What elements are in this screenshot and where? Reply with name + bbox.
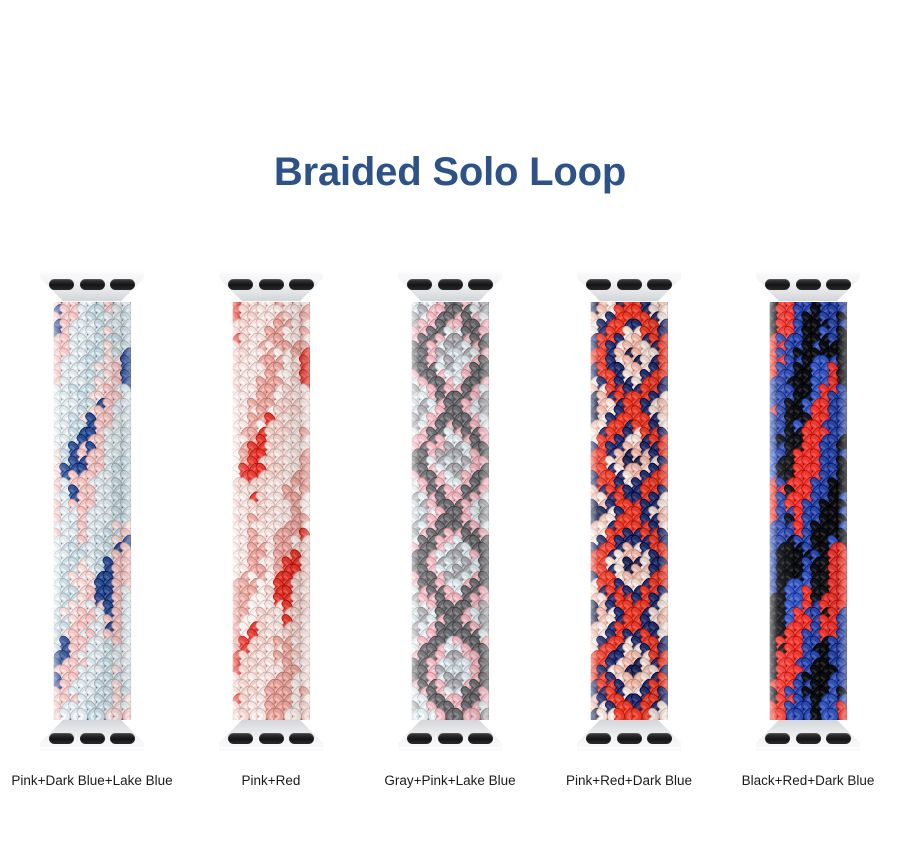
watch-lug-bottom xyxy=(398,720,502,752)
product-caption: Pink+Red+Dark Blue xyxy=(566,772,692,790)
lug-highlight xyxy=(220,747,322,751)
lug-slot-icon xyxy=(765,279,790,290)
braided-strap xyxy=(53,302,131,720)
lug-slot-group xyxy=(407,279,493,290)
lug-slot-group xyxy=(49,279,135,290)
watch-lug-top xyxy=(40,270,144,302)
lug-slot-icon xyxy=(468,279,493,290)
lug-slot-icon xyxy=(49,733,74,744)
watch-lug-top xyxy=(219,270,323,302)
product-item[interactable]: Pink+Dark Blue+Lake Blue xyxy=(8,270,176,780)
lug-slot-icon xyxy=(80,279,105,290)
lug-slot-group xyxy=(228,733,314,744)
product-item[interactable]: Pink+Red xyxy=(187,270,355,780)
lug-slot-icon xyxy=(289,733,314,744)
lug-slot-icon xyxy=(586,279,611,290)
lug-highlight xyxy=(220,271,322,275)
lug-slot-icon xyxy=(765,733,790,744)
lug-slot-icon xyxy=(407,733,432,744)
lug-slot-icon xyxy=(407,279,432,290)
watch-lug-bottom xyxy=(40,720,144,752)
lug-slot-group xyxy=(228,279,314,290)
lug-slot-icon xyxy=(826,279,851,290)
product-image-canvas: Braided Solo Loop xyxy=(0,0,900,862)
product-caption: Gray+Pink+Lake Blue xyxy=(384,772,515,790)
lug-slot-icon xyxy=(259,733,284,744)
product-caption: Pink+Red xyxy=(242,772,301,790)
watch-lug-bottom xyxy=(219,720,323,752)
lug-slot-icon xyxy=(826,733,851,744)
lug-slot-group xyxy=(765,733,851,744)
lug-slot-icon xyxy=(228,733,253,744)
braided-strap xyxy=(590,302,668,720)
lug-slot-group xyxy=(49,733,135,744)
lug-slot-group xyxy=(586,733,672,744)
lug-slot-icon xyxy=(468,733,493,744)
lug-slot-icon xyxy=(647,279,672,290)
lug-highlight xyxy=(399,271,501,275)
lug-slot-icon xyxy=(228,279,253,290)
product-item[interactable]: Pink+Red+Dark Blue xyxy=(545,270,713,780)
lug-highlight xyxy=(41,747,143,751)
lug-slot-icon xyxy=(617,733,642,744)
lug-slot-icon xyxy=(259,279,284,290)
lug-slot-icon xyxy=(289,279,314,290)
lug-slot-group xyxy=(407,733,493,744)
lug-slot-icon xyxy=(796,733,821,744)
product-item[interactable]: Black+Red+Dark Blue xyxy=(724,270,892,780)
watch-lug-top xyxy=(577,270,681,302)
lug-slot-icon xyxy=(80,733,105,744)
product-caption: Pink+Dark Blue+Lake Blue xyxy=(11,772,172,790)
product-caption: Black+Red+Dark Blue xyxy=(742,772,875,790)
lug-slot-icon xyxy=(586,733,611,744)
band-gallery: Pink+Dark Blue+Lake Blue xyxy=(0,270,900,780)
lug-slot-icon xyxy=(617,279,642,290)
lug-slot-icon xyxy=(110,733,135,744)
lug-slot-group xyxy=(765,279,851,290)
watch-lug-bottom xyxy=(756,720,860,752)
lug-highlight xyxy=(757,747,859,751)
lug-highlight xyxy=(41,271,143,275)
lug-slot-icon xyxy=(438,733,463,744)
lug-highlight xyxy=(578,747,680,751)
product-item[interactable]: Gray+Pink+Lake Blue xyxy=(366,270,534,780)
braided-strap xyxy=(411,302,489,720)
braided-strap xyxy=(232,302,310,720)
lug-slot-icon xyxy=(796,279,821,290)
watch-lug-top xyxy=(398,270,502,302)
lug-highlight xyxy=(399,747,501,751)
lug-slot-group xyxy=(586,279,672,290)
lug-highlight xyxy=(578,271,680,275)
lug-slot-icon xyxy=(438,279,463,290)
lug-slot-icon xyxy=(49,279,74,290)
watch-lug-top xyxy=(756,270,860,302)
watch-lug-bottom xyxy=(577,720,681,752)
lug-highlight xyxy=(757,271,859,275)
lug-slot-icon xyxy=(647,733,672,744)
braided-strap xyxy=(769,302,847,720)
page-title: Braided Solo Loop xyxy=(0,148,900,196)
lug-slot-icon xyxy=(110,279,135,290)
